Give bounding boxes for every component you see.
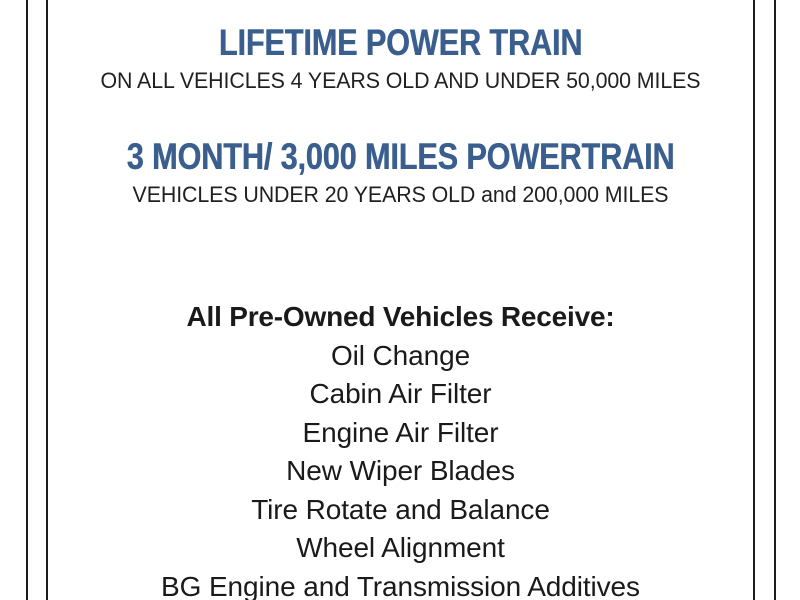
warranty-subtitle: VEHICLES UNDER 20 YEARS OLD and 200,000 … [66,181,736,209]
flyer-canvas: LIFETIME POWER TRAIN ON ALL VEHICLES 4 Y… [0,0,800,600]
warranty-block-three-month-powertrain: 3 MONTH/ 3,000 MILES POWERTRAIN VEHICLES… [48,136,753,209]
left-outer-border-line [26,0,28,600]
warranty-block-lifetime-power-train: LIFETIME POWER TRAIN ON ALL VEHICLES 4 Y… [48,22,753,95]
services-list: Oil Change Cabin Air Filter Engine Air F… [48,337,753,600]
list-item: Tire Rotate and Balance [48,491,753,530]
right-outer-border-line [774,0,776,600]
list-item: Cabin Air Filter [48,375,753,414]
right-inner-border-line [753,0,755,600]
flyer-content: LIFETIME POWER TRAIN ON ALL VEHICLES 4 Y… [48,0,753,600]
warranty-title: LIFETIME POWER TRAIN [108,22,693,64]
list-item: New Wiper Blades [48,452,753,491]
list-item: Wheel Alignment [48,529,753,568]
services-section: All Pre-Owned Vehicles Receive: Oil Chan… [48,298,753,600]
list-item: Engine Air Filter [48,414,753,453]
list-item: Oil Change [48,337,753,376]
services-heading: All Pre-Owned Vehicles Receive: [48,298,753,337]
warranty-subtitle: ON ALL VEHICLES 4 YEARS OLD AND UNDER 50… [66,67,736,95]
list-item: BG Engine and Transmission Additives [48,568,753,600]
warranty-title: 3 MONTH/ 3,000 MILES POWERTRAIN [108,136,693,178]
